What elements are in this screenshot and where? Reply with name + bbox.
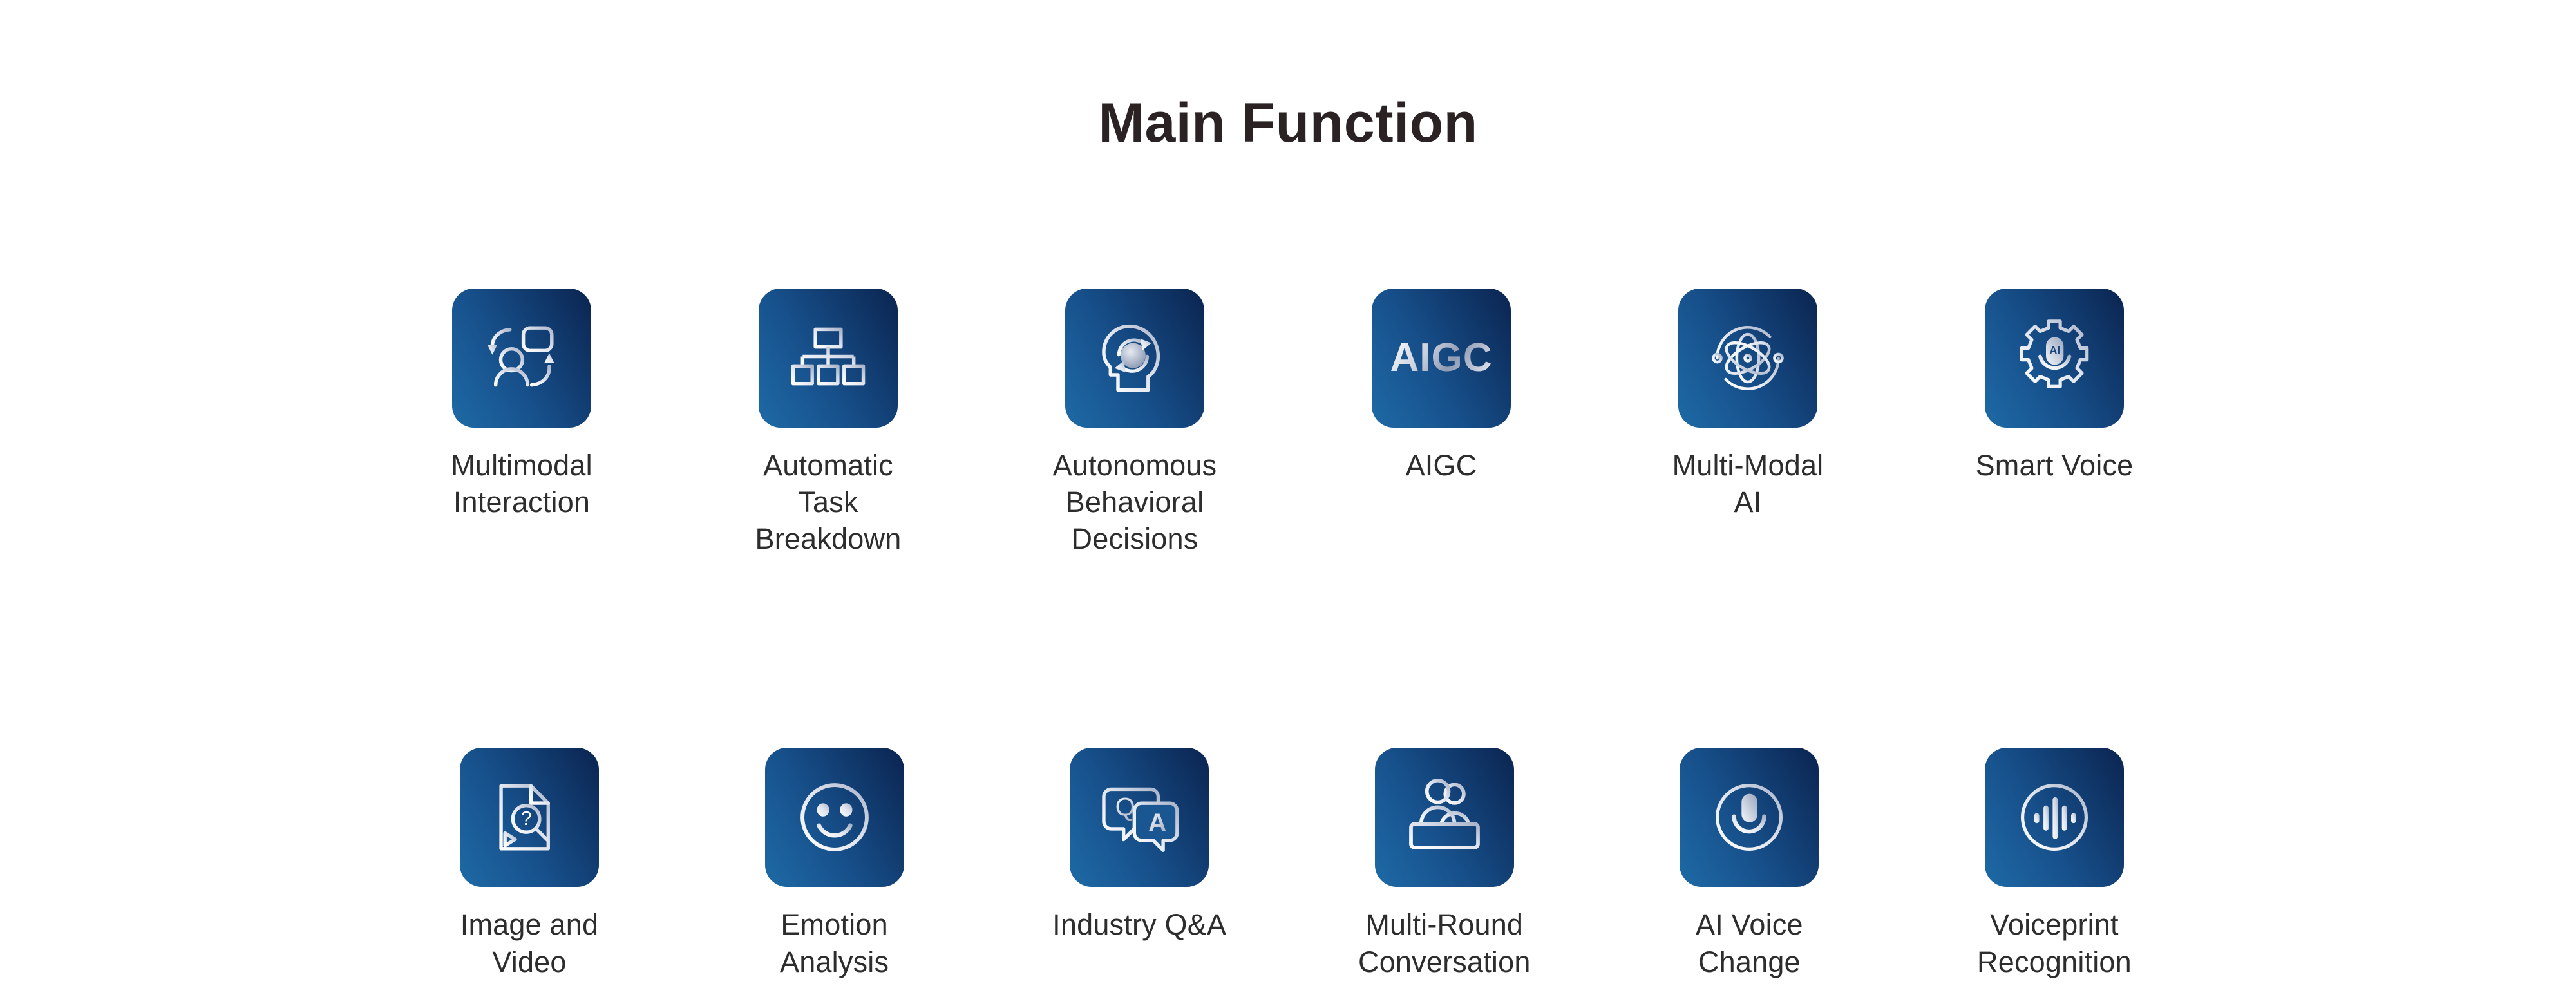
- feature-label: Autonomous Behavioral Decisions: [1053, 447, 1217, 557]
- feature-card-ai-voice-change[interactable]: AI Voice Change: [1653, 748, 1846, 980]
- feature-label: Multi-Round Conversation: [1358, 906, 1531, 980]
- feature-label: AIGC: [1406, 447, 1477, 484]
- feature-tile[interactable]: [759, 289, 898, 428]
- feature-tile[interactable]: ?: [460, 748, 599, 887]
- feature-tile[interactable]: [1065, 289, 1204, 428]
- head-autonomous-decision-icon: [1093, 316, 1177, 400]
- feature-tile[interactable]: [765, 748, 904, 887]
- feature-card-multi-round-conversation[interactable]: Multi-Round Conversation: [1348, 748, 1541, 980]
- svg-text:Q: Q: [1115, 793, 1135, 822]
- feature-card-voiceprint-recognition[interactable]: Voiceprint Recognition: [1958, 748, 2151, 980]
- feature-row-2: ? Image and Video: [425, 748, 2151, 980]
- atom-multimodal-ai-icon: [1705, 316, 1790, 401]
- feature-card-smart-voice[interactable]: AI Smart Voice: [1958, 289, 2151, 484]
- feature-tile[interactable]: Q A: [1070, 748, 1209, 887]
- gear-microphone-ai-icon: AI: [2012, 316, 2096, 400]
- feature-label: Image and Video: [433, 906, 626, 980]
- feature-card-multimodal-interaction[interactable]: Multimodal Interaction: [425, 289, 618, 520]
- feature-card-autonomous-behavioral-decisions[interactable]: Autonomous Behavioral Decisions: [1038, 289, 1231, 557]
- aigc-wordmark-icon: AIGC: [1390, 338, 1493, 378]
- multimodal-interaction-icon: [480, 316, 563, 400]
- speech-bubbles-qa-icon: Q A: [1098, 776, 1180, 859]
- microphone-circle-icon: [1707, 775, 1791, 859]
- feature-label: Automatic Task Breakdown: [732, 447, 925, 557]
- feature-label: Industry Q&A: [1052, 906, 1226, 943]
- feature-row-1: Multimodal Interaction: [425, 289, 2151, 557]
- svg-text:AI: AI: [2049, 345, 2060, 357]
- document-search-play-icon: ?: [490, 778, 569, 857]
- feature-tile[interactable]: [1375, 748, 1514, 887]
- svg-text:A: A: [1148, 809, 1167, 837]
- feature-tile[interactable]: AIGC: [1372, 289, 1511, 428]
- feature-label: Emotion Analysis: [738, 906, 931, 980]
- feature-card-emotion-analysis[interactable]: Emotion Analysis: [738, 748, 931, 980]
- feature-card-industry-qa[interactable]: Q A Industry Q&A: [1043, 748, 1236, 943]
- feature-tile[interactable]: [452, 289, 591, 428]
- feature-tile[interactable]: [1678, 289, 1817, 428]
- smiley-face-icon: [793, 776, 876, 859]
- feature-card-image-and-video[interactable]: ? Image and Video: [433, 748, 626, 980]
- feature-label: Voiceprint Recognition: [1977, 906, 2132, 980]
- voice-waveform-circle-icon: [2012, 775, 2096, 859]
- feature-card-multi-modal-ai[interactable]: Multi-Modal AI: [1651, 289, 1844, 520]
- feature-label: Smart Voice: [1976, 447, 2134, 484]
- page-title: Main Function: [0, 95, 2576, 151]
- feature-card-automatic-task-breakdown[interactable]: Automatic Task Breakdown: [732, 289, 925, 557]
- feature-grid: Multimodal Interaction: [425, 289, 2151, 980]
- svg-text:?: ?: [521, 808, 532, 830]
- feature-tile[interactable]: AI: [1985, 289, 2124, 428]
- feature-card-aigc[interactable]: AIGC AIGC: [1345, 289, 1538, 484]
- main-function-page: Main Function: [0, 0, 2576, 1006]
- feature-tile[interactable]: [1680, 748, 1819, 887]
- feature-label: Multi-Modal AI: [1672, 447, 1824, 520]
- feature-label: AI Voice Change: [1696, 906, 1803, 980]
- task-breakdown-hierarchy-icon: [788, 318, 868, 398]
- feature-label: Multimodal Interaction: [451, 447, 592, 520]
- people-desk-conversation-icon: [1403, 775, 1486, 859]
- feature-tile[interactable]: [1985, 748, 2124, 887]
